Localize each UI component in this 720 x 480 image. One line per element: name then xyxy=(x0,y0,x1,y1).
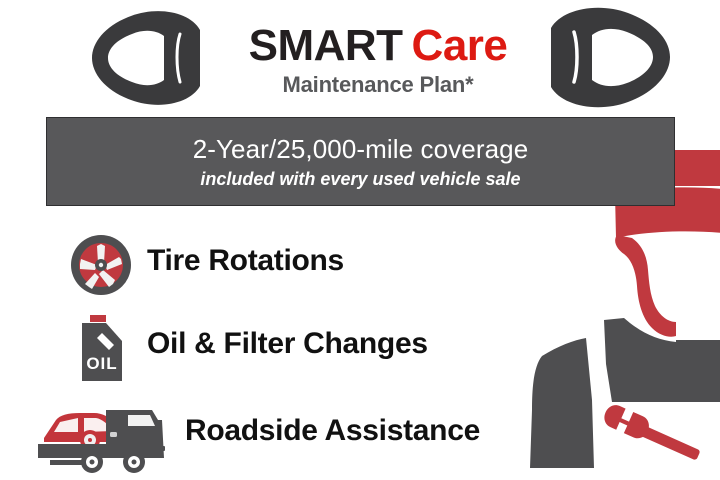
wrench-icon xyxy=(601,402,704,465)
mechanic-right-body xyxy=(676,340,720,402)
feature-list: Tire Rotations OIL Oil & Filter Changes xyxy=(0,226,520,480)
logo-main-line: SMARTCare xyxy=(208,22,548,70)
feature-label: Oil & Filter Changes xyxy=(147,327,428,361)
coverage-banner: 2-Year/25,000-mile coverage included wit… xyxy=(46,117,675,206)
brand-header: SMARTCare Maintenance Plan* xyxy=(0,0,720,112)
feature-item-oil-filter-changes: OIL Oil & Filter Changes xyxy=(0,311,520,396)
coverage-subtitle: included with every used vehicle sale xyxy=(200,168,520,190)
logo-smart-text: SMART xyxy=(249,21,403,70)
tow-truck-icon xyxy=(36,406,176,474)
feature-item-tire-rotations: Tire Rotations xyxy=(0,226,520,311)
wrench-icon xyxy=(546,2,680,112)
tire-wheel-icon xyxy=(70,234,132,296)
brand-wordmark: SMARTCare Maintenance Plan* xyxy=(208,22,548,98)
wrench-icon xyxy=(86,6,204,110)
feature-label: Roadside Assistance xyxy=(185,414,480,448)
logo-care-text: Care xyxy=(412,21,508,70)
oil-bottle-icon: OIL xyxy=(76,315,128,383)
feature-item-roadside-assistance: Roadside Assistance xyxy=(0,396,520,480)
coverage-title: 2-Year/25,000-mile coverage xyxy=(193,133,529,165)
logo-subtitle: Maintenance Plan* xyxy=(208,72,548,98)
smart-care-infographic: SMARTCare Maintenance Plan* 2-Year/25,00… xyxy=(0,0,720,480)
mechanic-left-arm xyxy=(530,338,594,468)
svg-text:OIL: OIL xyxy=(86,354,117,373)
feature-label: Tire Rotations xyxy=(147,244,344,278)
